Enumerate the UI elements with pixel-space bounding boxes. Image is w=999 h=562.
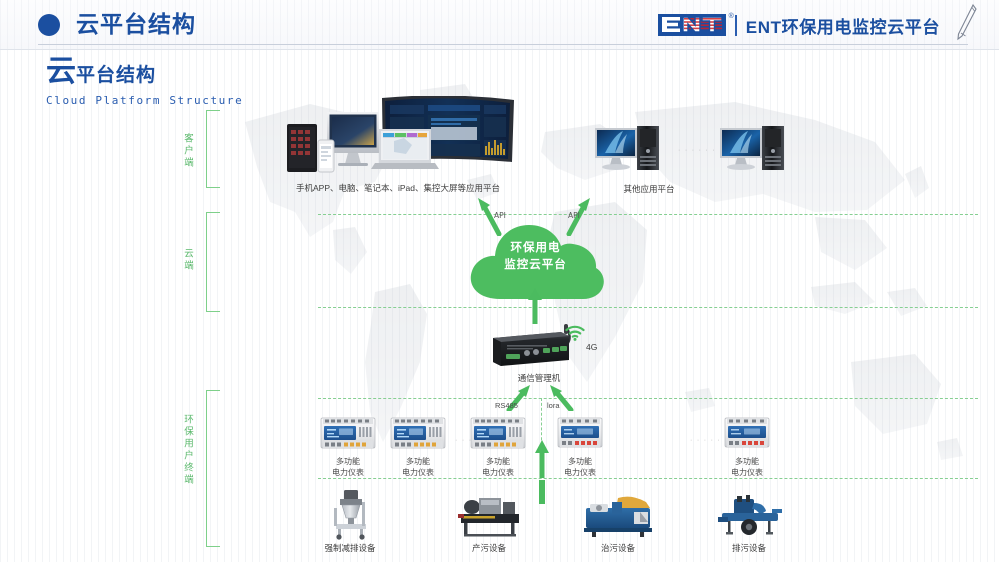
cloud-label-line2: 监控云平台: [463, 257, 608, 274]
separator-meters-equipment: [318, 478, 978, 479]
bus-label-lora: lora: [547, 401, 560, 410]
section-bracket-terminal: [206, 390, 220, 547]
ent-logo-icon: ®: [658, 14, 726, 36]
power-meter-icon: [470, 415, 526, 451]
header-divider: [38, 44, 968, 45]
slide-heading-rest: 平台结构: [76, 65, 156, 86]
brand-block: ® ENT环保用电监控云平台: [658, 8, 977, 42]
section-bracket-client: [206, 110, 220, 188]
power-meter-icon: [390, 415, 446, 451]
equipment-caption: 治污设备: [578, 543, 658, 554]
circle-bullet-icon: [38, 14, 60, 36]
cloud-platform-label: 环保用电 监控云平台: [463, 240, 608, 274]
other-platform-pc-right: [718, 120, 790, 176]
meter-caption: 多功能 电力仪表: [382, 456, 454, 478]
meter-caption: 多功能 电力仪表: [711, 456, 783, 478]
power-meter-icon: [557, 416, 603, 450]
page-title: 云平台结构: [76, 8, 196, 40]
network-4g-label: 4G: [586, 342, 597, 352]
slide-heading: 云平台结构 Cloud Platform Structure: [46, 57, 243, 107]
page-header: 云平台结构: [0, 0, 999, 50]
pen-icon: [955, 3, 977, 48]
section-bracket-cloud: [206, 212, 220, 312]
gateway-to-cloud-arrow: [527, 288, 543, 324]
equipment-caption: 产污设备: [449, 543, 529, 554]
discharge-pump-icon: [712, 495, 786, 539]
meter-caption: 多功能 电力仪表: [544, 456, 616, 478]
meter-caption: 多功能 电力仪表: [462, 456, 534, 478]
slide-canvas: 云平台结构: [0, 0, 999, 562]
meters-to-gateway-arrow: [534, 440, 550, 478]
equipment-to-meters-arrow: [534, 480, 550, 504]
section-label-cloud: 云端: [182, 248, 193, 272]
meter-caption: 多功能 电力仪表: [312, 456, 384, 478]
power-meter-icon: [320, 415, 376, 451]
section-label-terminal: 环保用户终端: [182, 414, 193, 486]
power-meter-icon: [724, 416, 770, 450]
meter-ellipsis: · · · · · ·: [690, 437, 728, 444]
other-platform-pc-left: [593, 120, 665, 176]
bus-label-rs485: RS485: [495, 401, 518, 410]
equipment-caption: 强制减排设备: [310, 543, 390, 554]
client-devices-caption: 手机APP、电脑、笔记本、iPad、集控大屏等应用平台: [278, 183, 518, 194]
registered-trademark-icon: ®: [729, 13, 734, 20]
mixer-equipment-icon: [322, 488, 378, 540]
brand-separator: [735, 15, 737, 36]
cloud-label-line1: 环保用电: [463, 240, 608, 257]
separator-cloud-terminal: [318, 307, 978, 308]
client-devices-illustration: [282, 96, 514, 182]
separator-client-cloud: [318, 214, 978, 215]
gateway-caption: 通信管理机: [489, 373, 589, 384]
wifi-icon: [565, 325, 585, 341]
other-platform-ellipsis: · · · · · ·: [678, 147, 716, 154]
slide-heading-big: 云: [46, 55, 76, 88]
equipment-caption: 排污设备: [709, 543, 789, 554]
section-label-client: 客户端: [182, 133, 193, 169]
separator-gateway-meters: [318, 398, 978, 399]
brand-name: ENT环保用电监控云平台: [746, 13, 940, 38]
pollution-source-equipment-icon: [455, 494, 523, 538]
other-platform-caption: 其他应用平台: [594, 184, 704, 195]
treatment-equipment-icon: [578, 492, 656, 538]
slide-heading-english: Cloud Platform Structure: [46, 94, 243, 107]
